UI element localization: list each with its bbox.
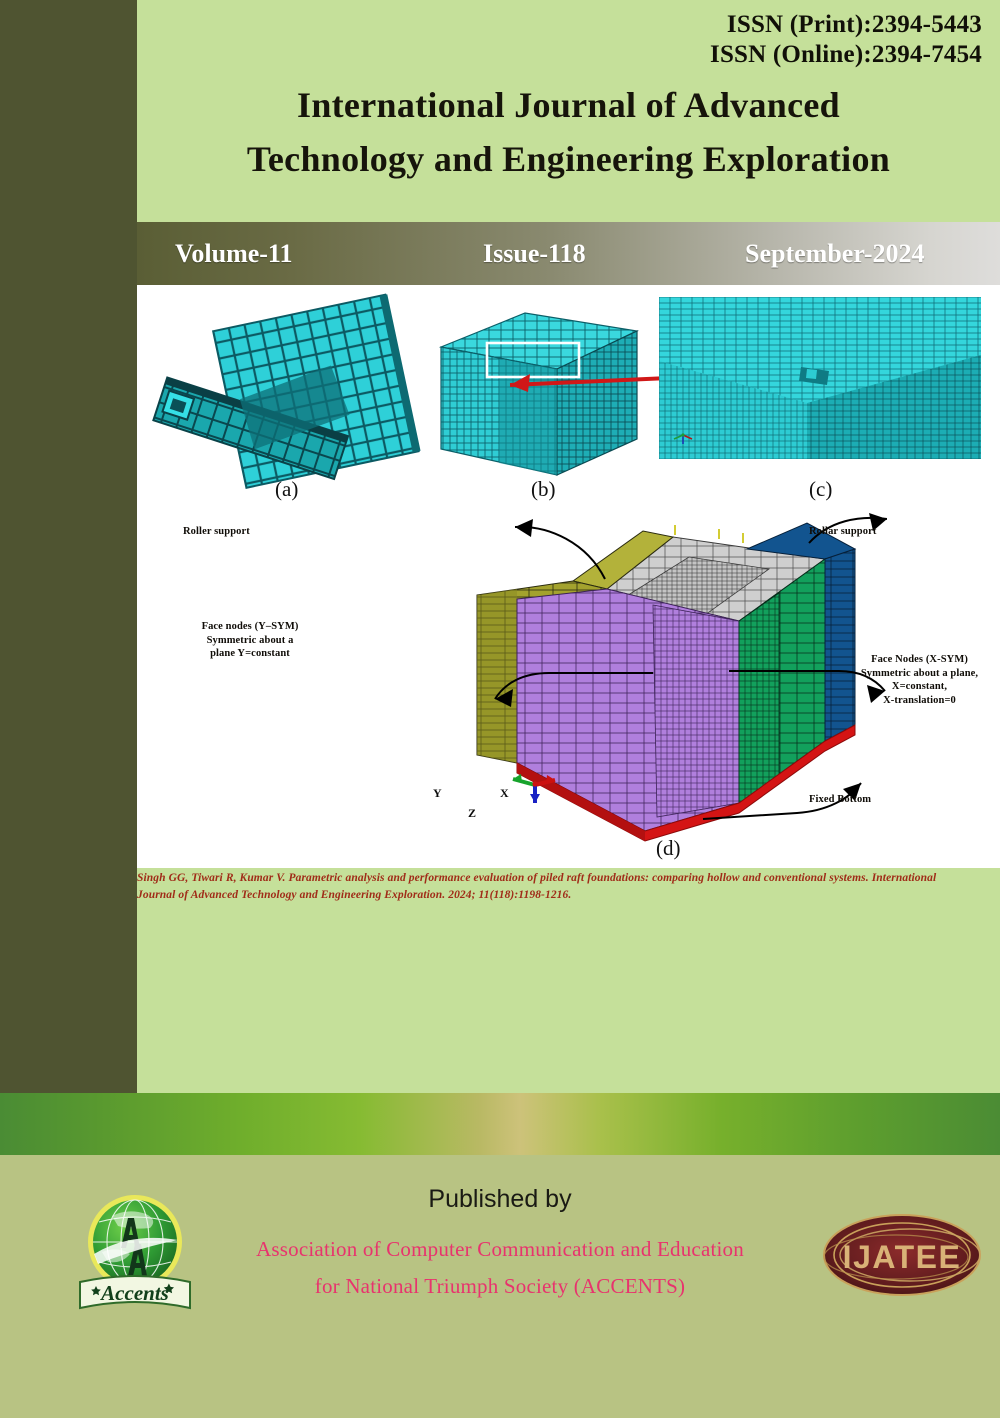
figure-panel: (a) xyxy=(137,285,1000,868)
axis-label-x: X xyxy=(500,786,509,801)
content-panel: (a) xyxy=(137,285,1000,1093)
decorative-green-band xyxy=(0,1093,1000,1155)
ijatee-logo-icon: IJATEE xyxy=(822,1212,982,1298)
accents-logo-icon: Accents xyxy=(72,1190,198,1316)
face-nodes-y-line-3: plane Y=constant xyxy=(155,647,345,661)
roller-support-left-text: Roller support xyxy=(183,526,250,537)
publisher-line-1: Association of Computer Communication an… xyxy=(190,1231,810,1268)
face-nodes-x-line-1: Face Nodes (X-SYM) xyxy=(827,653,1000,667)
title-line-2: Technology and Engineering Exploration xyxy=(137,132,1000,186)
figure-d-label: (d) xyxy=(656,836,681,861)
axis-label-y: Y xyxy=(433,786,442,801)
figure-b-label: (b) xyxy=(531,477,556,502)
axis-label-z: Z xyxy=(468,806,476,821)
header: ISSN (Print):2394-5443 ISSN (Online):239… xyxy=(137,0,1000,222)
annotation-rollar-support-right: Rollar support xyxy=(809,525,959,539)
accents-logo-text: Accents xyxy=(99,1281,169,1305)
annotation-fixed-bottom: Fixed Bottom xyxy=(809,793,949,807)
left-spine xyxy=(0,0,137,1093)
issn-print: ISSN (Print):2394-5443 xyxy=(710,10,982,40)
annotation-face-nodes-x: Face Nodes (X-SYM) Symmetric about a pla… xyxy=(827,653,1000,708)
issue-label: Issue-118 xyxy=(483,239,586,269)
issn-online: ISSN (Online):2394-7454 xyxy=(710,40,982,70)
face-nodes-x-line-3: X=constant, xyxy=(827,680,1000,694)
figure-a-label: (a) xyxy=(275,477,298,502)
volume-issue-bar: Volume-11 Issue-118 September-2024 xyxy=(137,222,1000,285)
ijatee-logo-text: IJATEE xyxy=(843,1239,962,1275)
figure-c-mesh xyxy=(659,297,981,482)
title-line-1: International Journal of Advanced xyxy=(137,78,1000,132)
face-nodes-y-line-1: Face nodes (Y–SYM) xyxy=(155,620,345,634)
journal-cover: ISSN (Print):2394-5443 ISSN (Online):239… xyxy=(0,0,1000,1418)
issn-block: ISSN (Print):2394-5443 ISSN (Online):239… xyxy=(710,10,982,69)
face-nodes-y-line-2: Symmetric about a xyxy=(155,634,345,648)
citation-text: Singh GG, Tiwari R, Kumar V. Parametric … xyxy=(137,870,977,903)
publisher-name: Association of Computer Communication an… xyxy=(190,1231,810,1305)
volume-label: Volume-11 xyxy=(175,239,293,269)
face-nodes-x-line-2: Symmetric about a plane, xyxy=(827,667,1000,681)
rollar-support-right-text: Rollar support xyxy=(809,526,876,537)
date-label: September-2024 xyxy=(745,239,925,269)
figure-c-label: (c) xyxy=(809,477,832,502)
page-title: International Journal of Advanced Techno… xyxy=(137,78,1000,186)
annotation-roller-support-left: Roller support xyxy=(183,525,313,539)
fixed-bottom-text: Fixed Bottom xyxy=(809,794,871,805)
face-nodes-x-line-4: X-translation=0 xyxy=(827,694,1000,708)
annotation-face-nodes-y: Face nodes (Y–SYM) Symmetric about a pla… xyxy=(155,620,345,661)
publisher-line-2: for National Triumph Society (ACCENTS) xyxy=(190,1268,810,1305)
figure-a-mesh xyxy=(147,293,447,503)
